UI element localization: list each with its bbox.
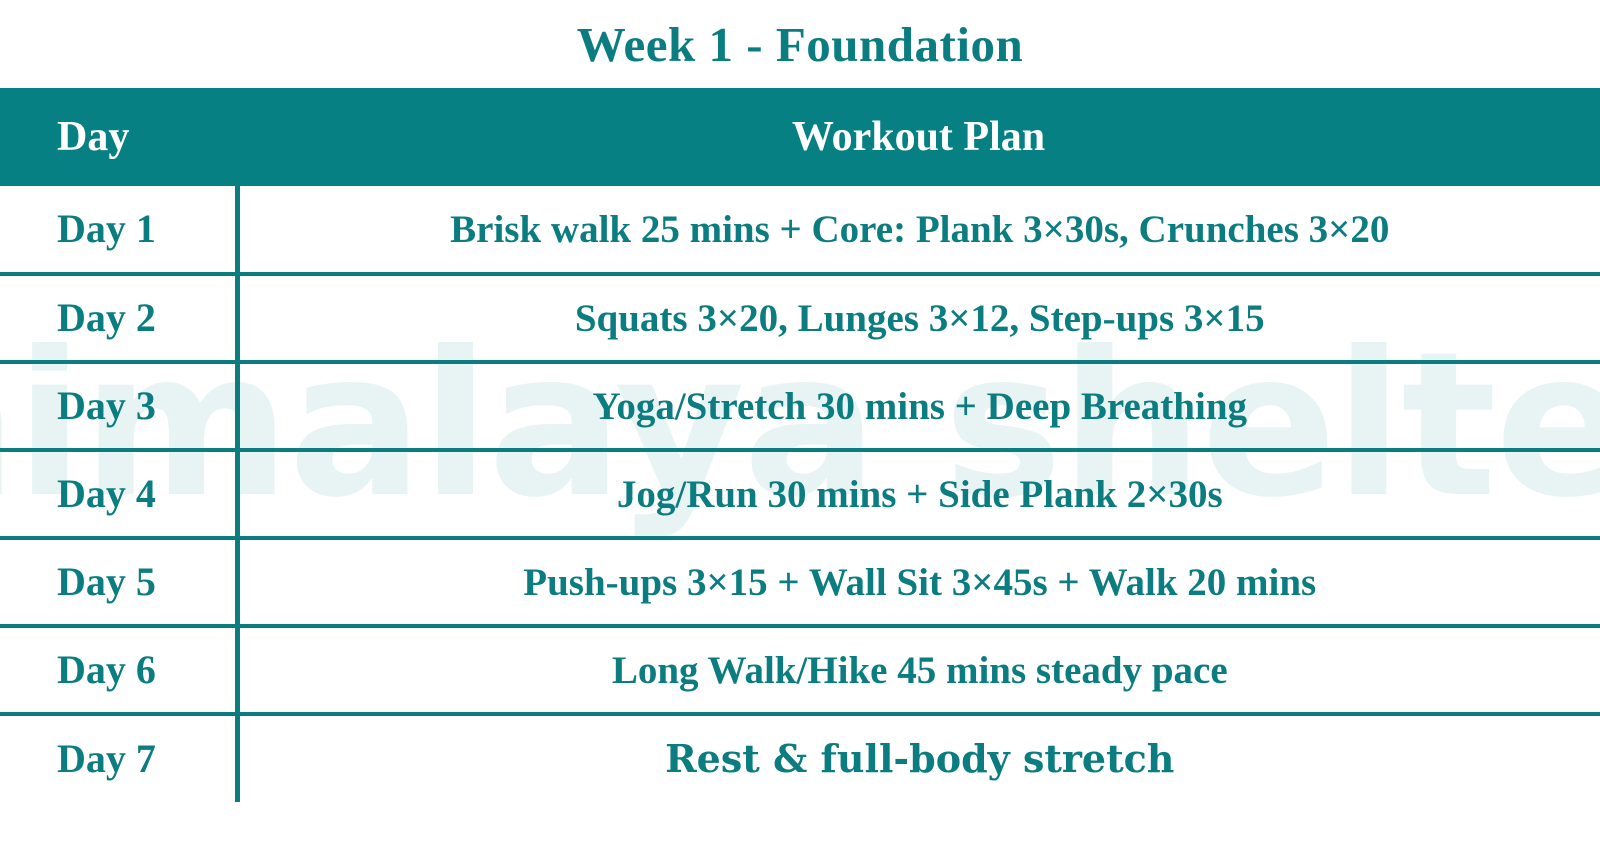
table-row: Day 3 Yoga/Stretch 30 mins + Deep Breath… bbox=[0, 362, 1600, 450]
cell-day: Day 3 bbox=[0, 362, 237, 450]
cell-day: Day 1 bbox=[0, 186, 237, 274]
cell-workout-plan: Yoga/Stretch 30 mins + Deep Breathing bbox=[237, 362, 1600, 450]
table-row: Day 4 Jog/Run 30 mins + Side Plank 2×30s bbox=[0, 450, 1600, 538]
cell-day: Day 6 bbox=[0, 626, 237, 714]
table-body: Day 1 Brisk walk 25 mins + Core: Plank 3… bbox=[0, 186, 1600, 802]
cell-day: Day 5 bbox=[0, 538, 237, 626]
table-row: Day 6 Long Walk/Hike 45 mins steady pace bbox=[0, 626, 1600, 714]
table-row: Day 5 Push-ups 3×15 + Wall Sit 3×45s + W… bbox=[0, 538, 1600, 626]
cell-workout-plan: Squats 3×20, Lunges 3×12, Step-ups 3×15 bbox=[237, 274, 1600, 362]
cell-workout-plan: Long Walk/Hike 45 mins steady pace bbox=[237, 626, 1600, 714]
page-title: Week 1 - Foundation bbox=[0, 0, 1600, 88]
table-row: Day 1 Brisk walk 25 mins + Core: Plank 3… bbox=[0, 186, 1600, 274]
table-header: Day Workout Plan bbox=[0, 88, 1600, 186]
cell-workout-plan: Jog/Run 30 mins + Side Plank 2×30s bbox=[237, 450, 1600, 538]
workout-plan-table: Day Workout Plan Day 1 Brisk walk 25 min… bbox=[0, 88, 1600, 802]
cell-day: Day 2 bbox=[0, 274, 237, 362]
cell-workout-plan: Brisk walk 25 mins + Core: Plank 3×30s, … bbox=[237, 186, 1600, 274]
cell-day: Day 4 bbox=[0, 450, 237, 538]
workout-plan-page: himalaya shelter Week 1 - Foundation Day… bbox=[0, 0, 1600, 864]
table-row: Day 7 Rest & full-body stretch bbox=[0, 714, 1600, 802]
cell-workout-plan: Push-ups 3×15 + Wall Sit 3×45s + Walk 20… bbox=[237, 538, 1600, 626]
cell-day: Day 7 bbox=[0, 714, 237, 802]
table-row: Day 2 Squats 3×20, Lunges 3×12, Step-ups… bbox=[0, 274, 1600, 362]
column-header-workout-plan: Workout Plan bbox=[237, 88, 1600, 186]
cell-workout-plan: Rest & full-body stretch bbox=[237, 714, 1600, 802]
table-header-row: Day Workout Plan bbox=[0, 88, 1600, 186]
content-area: Week 1 - Foundation Day Workout Plan Day… bbox=[0, 0, 1600, 802]
column-header-day: Day bbox=[0, 88, 237, 186]
